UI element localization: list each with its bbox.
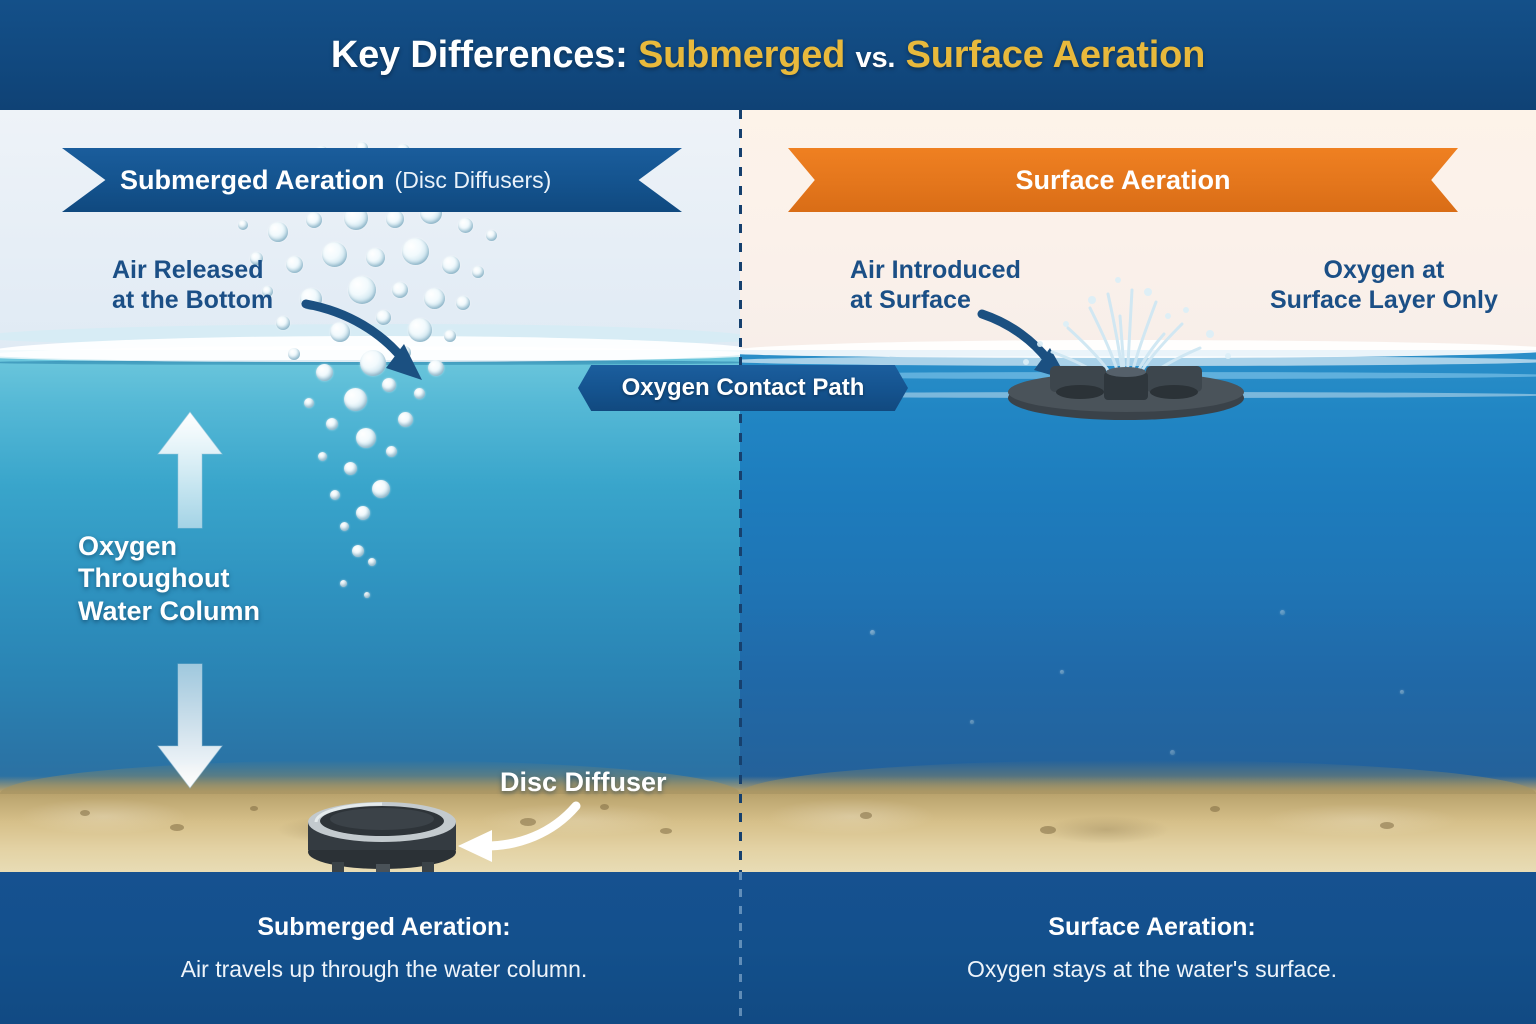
panel-submerged-aeration: Air Released at the Bottom Oxygen Throug… xyxy=(0,110,740,872)
banner-submerged-title: Submerged Aeration xyxy=(120,165,385,196)
diagram-body: Air Released at the Bottom Oxygen Throug… xyxy=(0,110,1536,872)
banner-oxygen-contact-path: Oxygen Contact Path xyxy=(578,365,908,411)
title-segment-vs: vs. xyxy=(856,42,896,74)
banner-submerged-aeration: Submerged Aeration (Disc Diffusers) xyxy=(62,148,682,212)
arrow-up-icon xyxy=(150,410,230,530)
callout-air-released-line2: at the Bottom xyxy=(112,286,273,316)
pond-floor-right xyxy=(740,776,1536,872)
footer-divider xyxy=(739,872,742,1024)
surface-aerator-device[interactable] xyxy=(1006,358,1246,424)
title-segment-surface-aeration: Surface Aeration xyxy=(906,34,1205,76)
callout-oxygen-water-column: Oxygen Throughout Water Column xyxy=(78,530,260,627)
panel-divider xyxy=(739,110,742,872)
callout-water-column-line2: Throughout xyxy=(78,562,260,594)
arrow-down-icon xyxy=(150,660,230,790)
callout-air-released-line1: Air Released xyxy=(112,256,273,286)
callout-surface-layer-line1: Oxygen at xyxy=(1270,256,1498,286)
diffuser-membrane-inner xyxy=(330,808,434,830)
aerator-outlet xyxy=(1106,367,1146,377)
aerator-port-left xyxy=(1056,385,1104,399)
header-bar: Key Differences: Submerged vs. Surface A… xyxy=(0,0,1536,110)
arrow-air-released-icon xyxy=(300,296,440,386)
diffuser-leg-right xyxy=(422,862,434,872)
footer-surface-title: Surface Aeration: xyxy=(1048,913,1255,942)
banner-oxygen-contact-path-label: Oxygen Contact Path xyxy=(622,374,865,402)
title-segment-key-differences: Key Differences: xyxy=(331,34,628,76)
footer-bar: Submerged Aeration: Air travels up throu… xyxy=(0,872,1536,1024)
footer-column-submerged: Submerged Aeration: Air travels up throu… xyxy=(0,872,768,1024)
panel-surface-aeration: Air Introduced at Surface Oxygen at Surf… xyxy=(740,110,1536,872)
footer-submerged-title: Submerged Aeration: xyxy=(257,913,510,942)
callout-water-column-line1: Oxygen xyxy=(78,530,260,562)
footer-column-surface: Surface Aeration: Oxygen stays at the wa… xyxy=(768,872,1536,1024)
aerator-port-right xyxy=(1150,385,1198,399)
disc-diffuser-device[interactable] xyxy=(290,782,530,872)
infographic-root: Key Differences: Submerged vs. Surface A… xyxy=(0,0,1536,1024)
title-segment-submerged: Submerged xyxy=(638,34,845,76)
banner-surface-aeration: Surface Aeration xyxy=(788,148,1458,212)
diffuser-leg-left xyxy=(332,862,344,872)
callout-air-released: Air Released at the Bottom xyxy=(112,256,273,315)
callout-water-column-line3: Water Column xyxy=(78,595,260,627)
diffuser-leg-center xyxy=(376,864,390,872)
page-title: Key Differences: Submerged vs. Surface A… xyxy=(331,34,1205,77)
footer-surface-description: Oxygen stays at the water's surface. xyxy=(967,956,1337,983)
callout-oxygen-surface-layer: Oxygen at Surface Layer Only xyxy=(1270,256,1498,315)
banner-surface-title: Surface Aeration xyxy=(1015,165,1230,196)
banner-submerged-subtitle: (Disc Diffusers) xyxy=(395,167,552,194)
footer-submerged-description: Air travels up through the water column. xyxy=(181,956,588,983)
callout-surface-layer-line2: Surface Layer Only xyxy=(1270,286,1498,316)
